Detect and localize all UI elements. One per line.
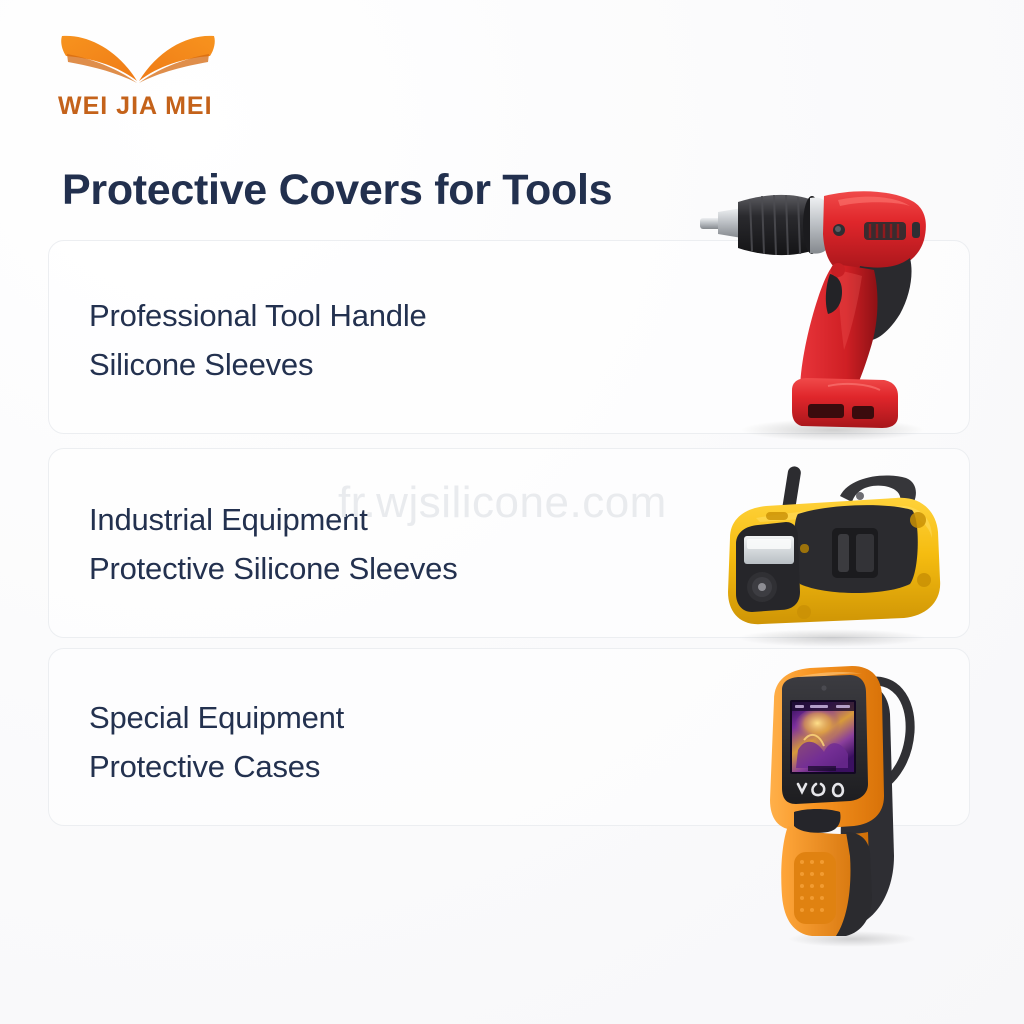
card-1-label-line1: Professional Tool Handle (89, 291, 427, 340)
yellow-rugged-industrial-device-image (700, 452, 958, 648)
brand-logo: WEI JIA MEI (58, 26, 288, 121)
page-title: Protective Covers for Tools (62, 166, 612, 215)
red-cordless-drill-image (688, 178, 956, 442)
orange-wings-logo-icon (58, 26, 218, 88)
orange-thermal-imaging-camera-image (748, 656, 964, 948)
card-2-label-line2: Protective Silicone Sleeves (89, 544, 458, 593)
page-background: WEI JIA MEI Protective Covers for Tools … (0, 0, 1024, 1024)
card-1-label: Professional Tool Handle Silicone Sleeve… (89, 291, 427, 389)
brand-name: WEI JIA MEI (58, 92, 288, 121)
card-2-label: Industrial Equipment Protective Silicone… (89, 495, 458, 593)
card-3-label-line1: Special Equipment (89, 693, 344, 742)
card-2-label-line1: Industrial Equipment (89, 495, 458, 544)
card-3-label-line2: Protective Cases (89, 742, 344, 791)
card-3-label: Special Equipment Protective Cases (89, 693, 344, 791)
card-1-label-line2: Silicone Sleeves (89, 340, 427, 389)
